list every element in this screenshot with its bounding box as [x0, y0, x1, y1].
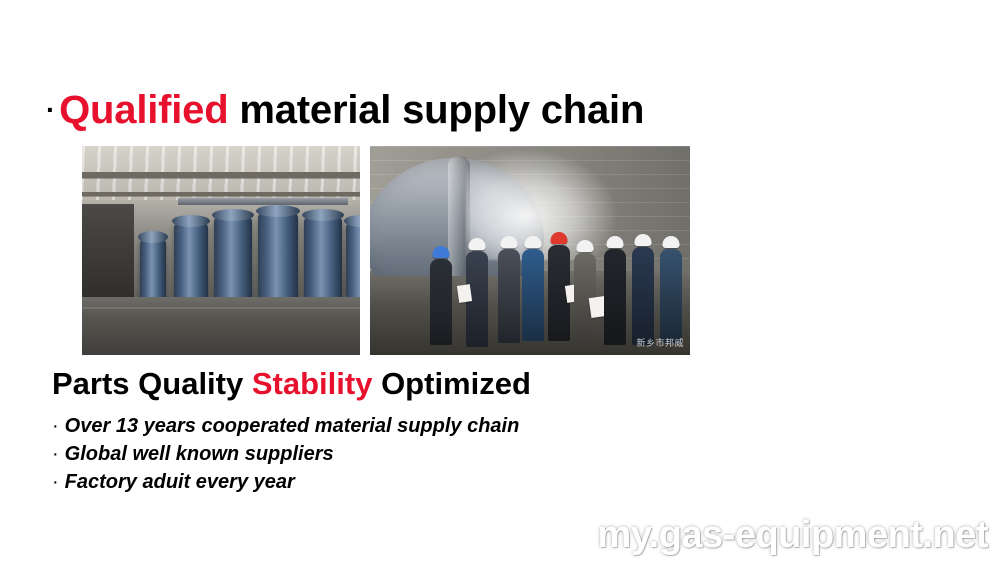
bullet-text: Global well known suppliers — [65, 443, 334, 465]
helmet-icon — [577, 240, 594, 252]
section-subtitle: Parts Quality Stability Optimized — [52, 366, 531, 402]
photo-pressure-vessels — [82, 146, 360, 355]
helmet-icon — [501, 236, 518, 248]
list-item: ·Factory aduit every year — [52, 468, 752, 496]
helmet-icon — [607, 236, 624, 248]
list-item: ·Over 13 years cooperated material suppl… — [52, 412, 752, 440]
person-figure — [574, 253, 596, 343]
person-figure — [660, 249, 682, 343]
bullet-dot: · — [52, 415, 59, 437]
bullet-text: Over 13 years cooperated material supply… — [65, 415, 520, 437]
list-item: ·Global well known suppliers — [52, 440, 752, 468]
slide-root: ·Qualified material supply chain — [0, 0, 1000, 563]
helmet-icon — [469, 238, 486, 250]
photo-left-pipe — [178, 198, 348, 205]
person-figure — [430, 259, 452, 345]
person-figure — [466, 251, 488, 347]
helmet-icon — [525, 236, 542, 248]
document-paper — [457, 284, 472, 303]
helmet-icon — [433, 246, 450, 258]
subtitle-post: Optimized — [372, 366, 530, 401]
photo-left-beam — [82, 192, 360, 196]
bullet-list: ·Over 13 years cooperated material suppl… — [52, 412, 752, 496]
subtitle-highlight: Stability — [252, 366, 373, 401]
helmet-icon — [635, 234, 652, 246]
photo-watermark: 新乡市邦威 — [636, 336, 684, 349]
person-figure — [522, 249, 544, 341]
helmet-icon — [663, 236, 680, 248]
bullet-dot: · — [52, 471, 59, 493]
page-title: ·Qualified material supply chain — [46, 88, 644, 133]
person-figure — [548, 245, 570, 341]
title-bullet: · — [46, 94, 55, 125]
photo-left-doorway — [82, 204, 134, 300]
photo-left-beam — [82, 172, 360, 178]
title-highlight: Qualified — [59, 88, 228, 132]
helmet-icon — [551, 232, 568, 244]
site-watermark: my.gas-equipment.net — [598, 514, 988, 557]
person-figure — [604, 249, 626, 345]
person-figure — [498, 249, 520, 343]
subtitle-pre: Parts Quality — [52, 366, 252, 401]
title-rest: material supply chain — [228, 88, 644, 132]
photo-site-inspection: 新乡市邦威 — [370, 146, 690, 355]
bullet-dot: · — [52, 443, 59, 465]
photo-left-floor — [82, 297, 360, 355]
person-figure — [632, 247, 654, 345]
bullet-text: Factory aduit every year — [65, 471, 295, 493]
